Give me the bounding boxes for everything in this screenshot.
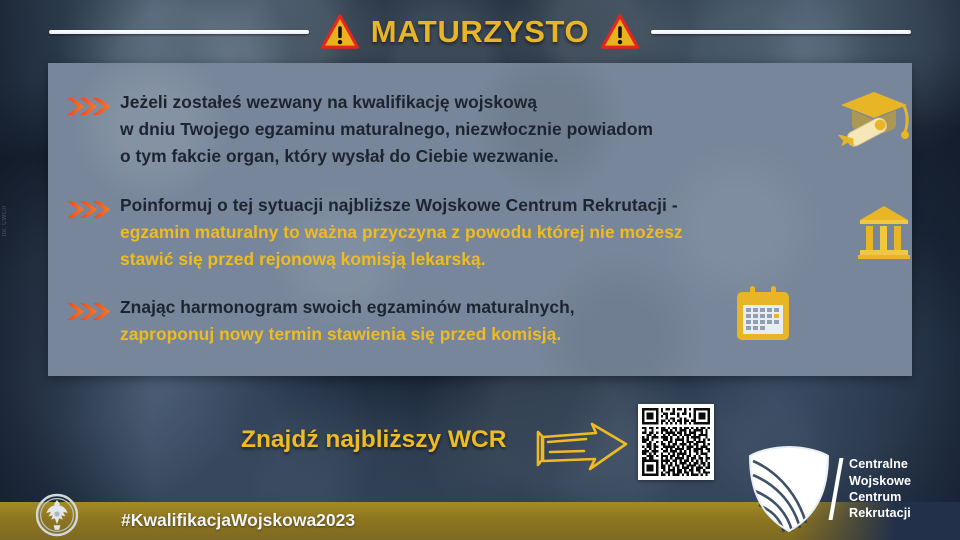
bank-building-icon — [858, 203, 910, 261]
info-block-lines: Poinformuj o tej sytuacji najbliższe Woj… — [120, 192, 894, 273]
cta-label: Znajdź najbliższy WCR — [241, 426, 506, 454]
brand-text: Centralne Wojskowe Centrum Rekrutacji — [849, 456, 911, 522]
triple-chevron-icon — [66, 302, 112, 321]
info-line: stawić się przed rejonową komisją lekars… — [120, 246, 894, 273]
info-block: Jeżeli zostałeś wezwany na kwalifikację … — [66, 89, 894, 170]
qr-code-icon[interactable] — [638, 404, 714, 480]
triple-chevron-icon — [66, 97, 112, 116]
info-block: Poinformuj o tej sytuacji najbliższe Woj… — [66, 192, 894, 273]
header: MATURZYSTO — [0, 8, 960, 56]
brand-line: Wojskowe — [849, 473, 911, 489]
brand-line: Centrum — [849, 489, 911, 505]
header-rule-right — [651, 30, 911, 34]
page-title: MATURZYSTO — [371, 14, 589, 50]
warning-triangle-icon — [321, 13, 359, 51]
brand-line: Rekrutacji — [849, 505, 911, 521]
info-block-lines: Jeżeli zostałeś wezwany na kwalifikację … — [120, 89, 894, 170]
info-line: o tym fakcie organ, który wysłał do Cieb… — [120, 143, 894, 170]
header-rule-left — [49, 30, 309, 34]
graduation-cap-icon — [838, 84, 912, 150]
hand-drawn-right-arrow-icon — [534, 420, 630, 474]
warning-triangle-icon — [601, 13, 639, 51]
info-line: w dniu Twojego egzaminu maturalnego, nie… — [120, 116, 894, 143]
info-line: Jeżeli zostałeś wezwany na kwalifikację … — [120, 89, 894, 116]
info-line: Poinformuj o tej sytuacji najbliższe Woj… — [120, 192, 894, 219]
calendar-icon — [734, 285, 792, 343]
brand-logo: Centralne Wojskowe Centrum Rekrutacji — [746, 444, 944, 534]
hashtag-label: #KwalifikacjaWojskowa2023 — [121, 510, 355, 531]
info-line: egzamin maturalny to ważna przyczyna z p… — [120, 219, 894, 246]
brand-line: Centralne — [849, 456, 911, 472]
triple-chevron-icon — [66, 200, 112, 219]
military-eagle-emblem-icon — [36, 492, 78, 538]
side-credit-text: fot. CWCR — [2, 205, 8, 236]
shield-logo-icon — [746, 445, 832, 533]
